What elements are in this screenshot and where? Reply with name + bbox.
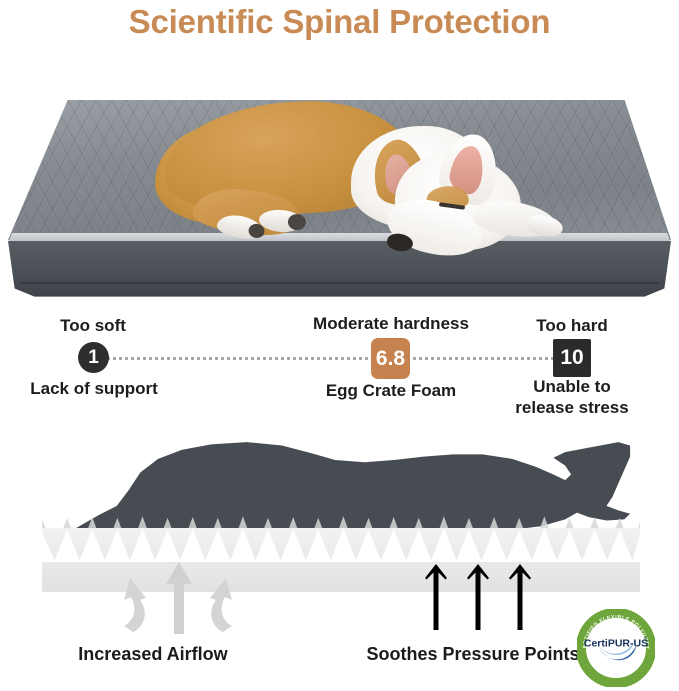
page-title: Scientific Spinal Protection (0, 2, 679, 42)
svg-text:CertiPUR-US: CertiPUR-US (584, 637, 648, 649)
certipur-us-badge: CONTAINS CERTIFIED FLEXIBLE POLYURETHANE… (577, 609, 655, 687)
svg-text:®: ® (644, 635, 648, 641)
hardness-scale: Too soft 1 Lack of support Moderate hard… (0, 306, 679, 414)
scale-label-too-hard: Too hard (487, 316, 657, 336)
scale-sublabel-lack-of-support: Lack of support (8, 378, 180, 399)
scale-sublabel-unable-to-release-stress: Unable to release stress (492, 376, 652, 418)
airflow-arrow-straight-icon (166, 562, 192, 634)
scale-marker-6-8: 6.8 (371, 338, 410, 379)
scale-marker-1: 1 (78, 342, 109, 373)
pressure-arrow-1-icon (424, 564, 448, 635)
airflow-arrow-curved-left-icon (116, 570, 150, 634)
label-soothes-pressure-points: Soothes Pressure Points (358, 644, 588, 665)
label-increased-airflow: Increased Airflow (28, 644, 278, 665)
pressure-arrow-2-icon (466, 564, 490, 635)
scale-label-too-soft: Too soft (18, 316, 168, 336)
scale-sublabel-egg-crate-foam: Egg Crate Foam (253, 380, 529, 401)
hero-product-photo (0, 48, 679, 300)
airflow-arrow-curved-right-icon (206, 570, 240, 634)
corgi-dog (155, 98, 545, 278)
pressure-arrow-3-icon (508, 564, 532, 635)
infographic-page: Scientific Spinal Protection (0, 0, 679, 691)
foam-cross-section-diagram (0, 424, 679, 634)
scale-sublabel-line1: Unable to (492, 376, 652, 397)
bed-side-seam (20, 282, 659, 284)
scale-sublabel-line2: release stress (492, 397, 652, 418)
scale-marker-10: 10 (553, 339, 591, 377)
scale-dotted-line (100, 357, 580, 360)
